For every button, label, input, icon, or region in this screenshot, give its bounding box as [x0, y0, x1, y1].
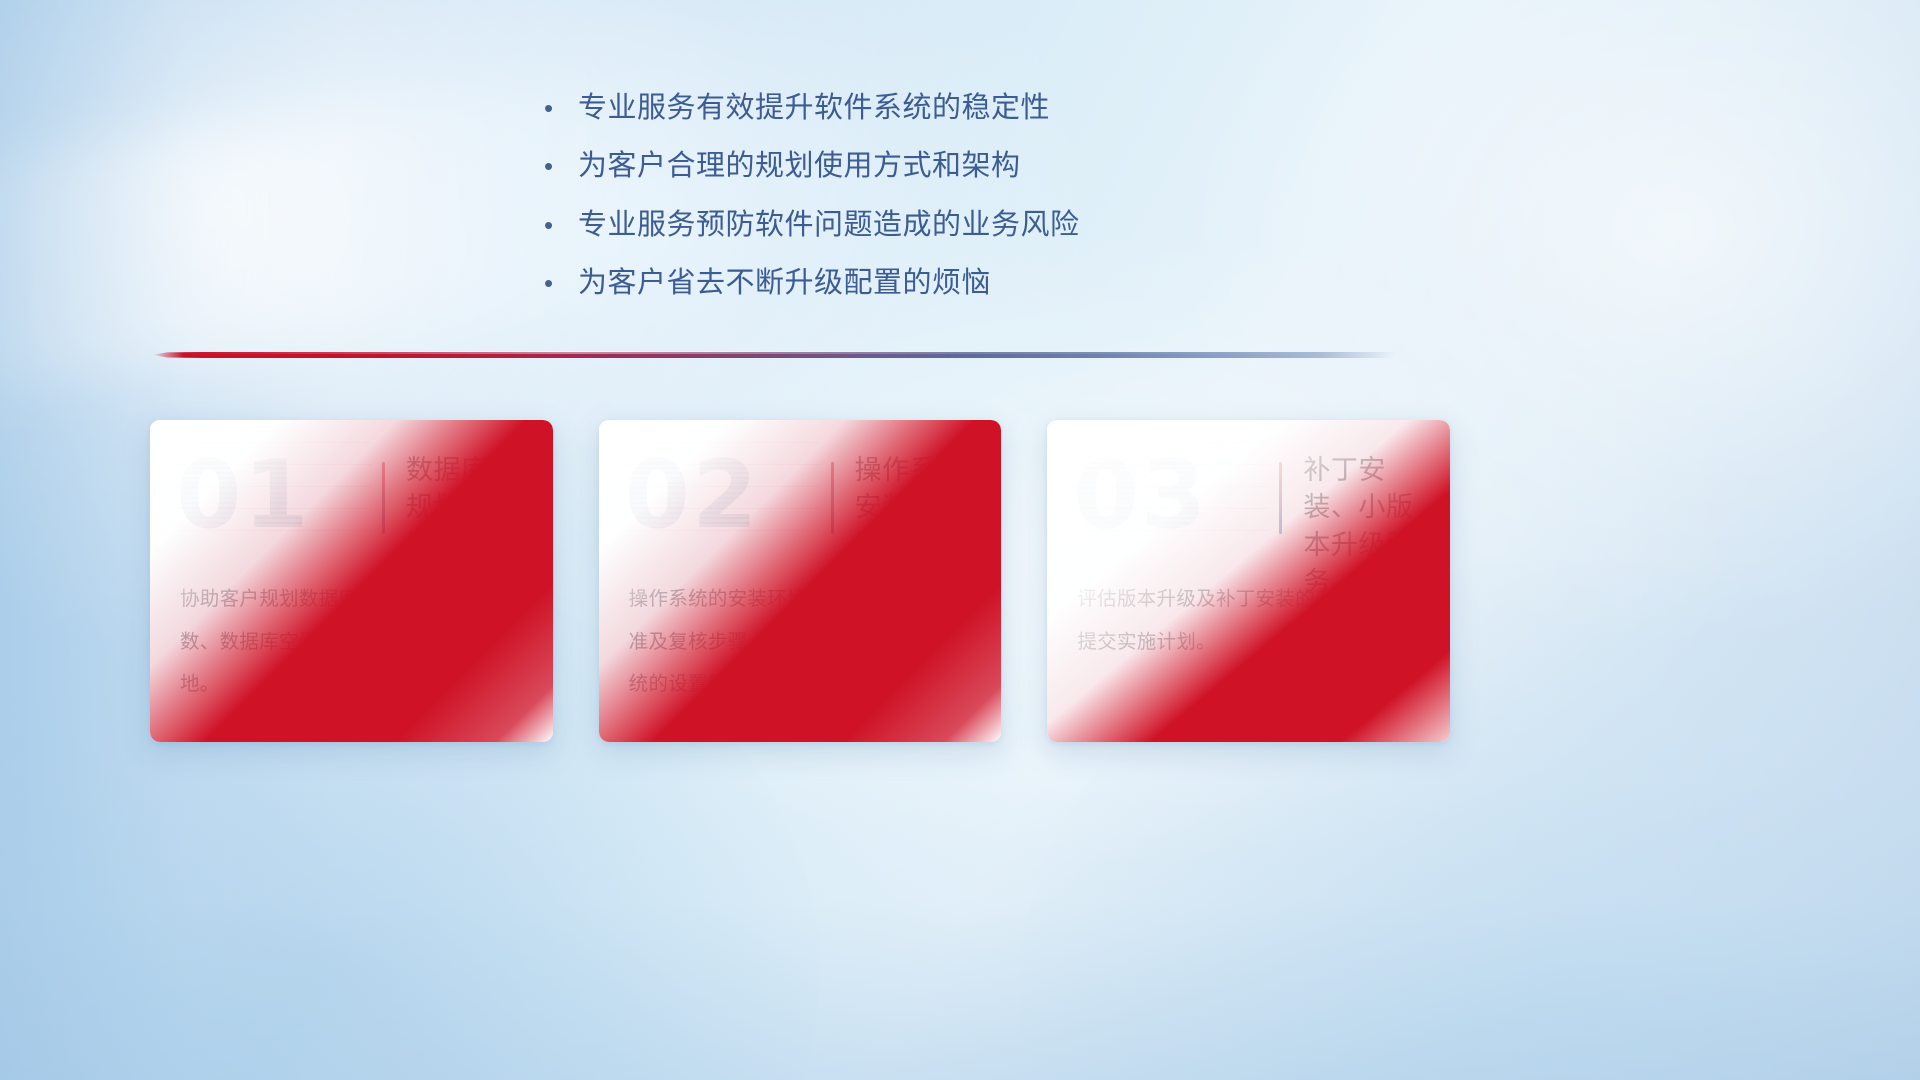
bullet-text: 专业服务有效提升软件系统的稳定性: [578, 92, 1050, 125]
card-description: 操作系统的安装环境网络调查、安装标准及复核步骤、驱动程序的配置以及系统的设置等内…: [629, 578, 981, 706]
card-accent-bar: [831, 462, 834, 534]
benefits-bullet-list: • 专业服务有效提升软件系统的稳定性 • 为客户合理的规划使用方式和架构 • 专…: [540, 92, 1380, 325]
service-card-inner: 03 补丁安装、小版本升级服务 评估版本升级及补丁安装的必要性，并提交实施计划。: [1047, 420, 1450, 742]
bullet-marker-icon: •: [540, 212, 578, 238]
card-description: 协助客户规划数据库环境、数据库参数、数据库空间、数据库对象等部署落地。: [180, 578, 532, 706]
section-divider: [152, 349, 1396, 361]
service-card-row: 01 数据库的规划与部署 协助客户规划数据库环境、数据库参数、数据库空间、数据库…: [150, 420, 1450, 742]
service-card-inner: 02 操作系统安装与设置 操作系统的安装环境网络调查、安装标准及复核步骤、驱动程…: [599, 420, 1002, 742]
card-title: 操作系统安装与设置: [855, 452, 987, 564]
card-accent-bar: [1279, 462, 1282, 534]
service-card[interactable]: 02 操作系统安装与设置 操作系统的安装环境网络调查、安装标准及复核步骤、驱动程…: [599, 420, 1002, 742]
bullet-marker-icon: •: [540, 95, 578, 121]
card-accent-bar: [382, 462, 385, 534]
service-card-inner: 01 数据库的规划与部署 协助客户规划数据库环境、数据库参数、数据库空间、数据库…: [150, 420, 553, 742]
card-number: 03: [1073, 442, 1269, 550]
list-item: • 专业服务有效提升软件系统的稳定性: [540, 92, 1380, 125]
card-number: 01: [176, 442, 372, 550]
card-number: 02: [625, 442, 821, 550]
service-card[interactable]: 01 数据库的规划与部署 协助客户规划数据库环境、数据库参数、数据库空间、数据库…: [150, 420, 553, 742]
list-item: • 为客户合理的规划使用方式和架构: [540, 150, 1380, 183]
card-description: 评估版本升级及补丁安装的必要性，并提交实施计划。: [1077, 578, 1429, 663]
card-title: 数据库的规划与部署: [406, 452, 538, 564]
list-item: • 专业服务预防软件问题造成的业务风险: [540, 209, 1380, 242]
background-bottom-veil: [0, 780, 1920, 1080]
bullet-marker-icon: •: [540, 153, 578, 179]
service-card[interactable]: 03 补丁安装、小版本升级服务 评估版本升级及补丁安装的必要性，并提交实施计划。: [1047, 420, 1450, 742]
bullet-marker-icon: •: [540, 270, 578, 296]
bullet-text: 为客户省去不断升级配置的烦恼: [578, 267, 991, 300]
bullet-text: 专业服务预防软件问题造成的业务风险: [578, 209, 1080, 242]
divider-sheen: [177, 351, 1371, 354]
list-item: • 为客户省去不断升级配置的烦恼: [540, 267, 1380, 300]
bullet-text: 为客户合理的规划使用方式和架构: [578, 150, 1021, 183]
